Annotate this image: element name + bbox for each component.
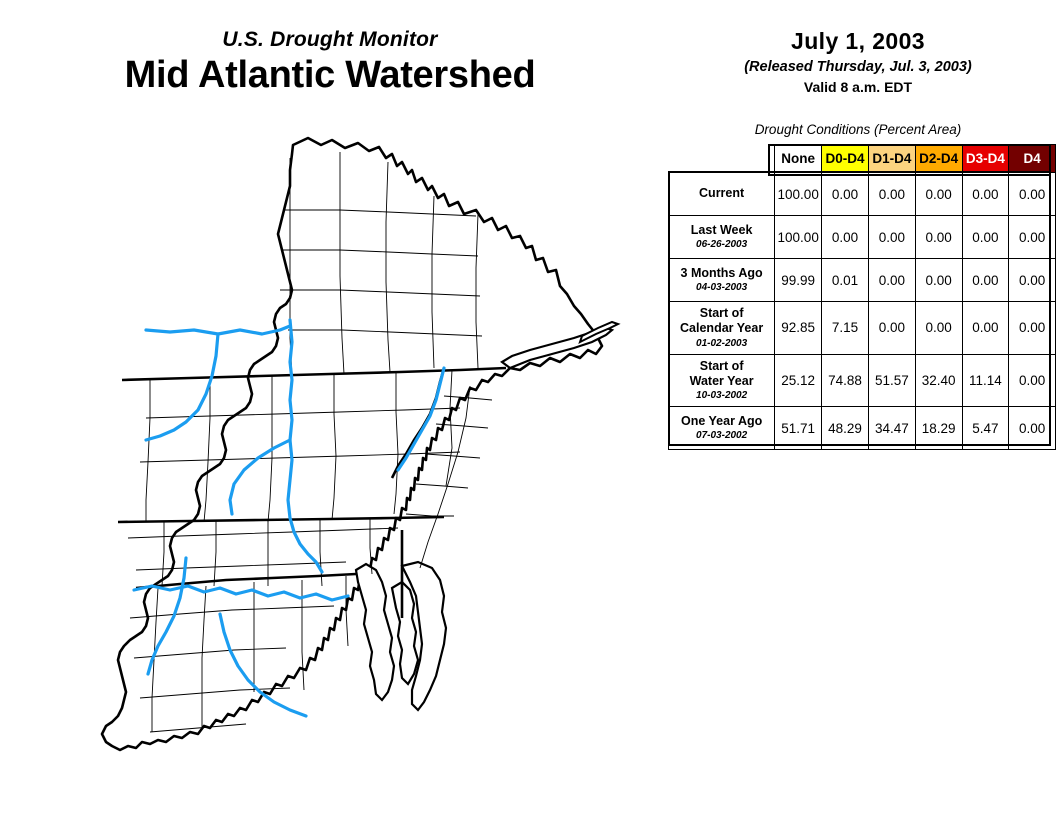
chesapeake-bay <box>356 564 418 700</box>
table-cell: 0.00 <box>868 173 915 216</box>
watershed-outline <box>102 138 602 750</box>
table-cell: 48.29 <box>822 407 869 450</box>
table-cell: 34.47 <box>868 407 915 450</box>
release-date: (Released Thursday, Jul. 3, 2003) <box>660 59 1056 75</box>
report-date: July 1, 2003 <box>660 28 1056 55</box>
table-cell: 0.00 <box>962 302 1009 355</box>
table-cell: 7.15 <box>822 302 869 355</box>
table-row-label: One Year Ago07-03-2002 <box>669 407 775 450</box>
info-panel: July 1, 2003 (Released Thursday, Jul. 3,… <box>660 0 1056 816</box>
table-cell: 99.99 <box>775 259 822 302</box>
table-header-row: NoneD0-D4D1-D4D2-D4D3-D4D4 <box>669 145 1056 173</box>
table-cell: 11.14 <box>962 354 1009 407</box>
table-cell: 0.00 <box>915 173 962 216</box>
date-block: July 1, 2003 (Released Thursday, Jul. 3,… <box>660 28 1056 95</box>
table-col-header-d1-d4: D1-D4 <box>868 145 915 173</box>
table-cell: 0.00 <box>868 216 915 259</box>
map-panel: U.S. Drought Monitor Mid Atlantic Waters… <box>0 0 660 816</box>
table-body: Current100.000.000.000.000.000.00Last We… <box>669 173 1056 450</box>
table-cell: 74.88 <box>822 354 869 407</box>
table-col-header-none: None <box>775 145 822 173</box>
valid-time: Valid 8 a.m. EDT <box>660 79 1056 95</box>
table-cell: 0.00 <box>1009 354 1056 407</box>
table-row: Start ofCalendar Year01-02-200392.857.15… <box>669 302 1056 355</box>
table-cell: 25.12 <box>775 354 822 407</box>
table-cell: 0.00 <box>822 173 869 216</box>
program-title: U.S. Drought Monitor <box>0 28 660 51</box>
table-cell: 0.00 <box>1009 173 1056 216</box>
region-title: Mid Atlantic Watershed <box>0 54 660 97</box>
table-col-header-d0-d4: D0-D4 <box>822 145 869 173</box>
table-cell: 18.29 <box>915 407 962 450</box>
table-caption: Drought Conditions (Percent Area) <box>660 122 1056 137</box>
table-row: Current100.000.000.000.000.000.00 <box>669 173 1056 216</box>
table-cell: 0.00 <box>915 259 962 302</box>
table-cell: 0.00 <box>1009 302 1056 355</box>
table-row-label: Start ofCalendar Year01-02-2003 <box>669 302 775 355</box>
table-cell: 0.00 <box>1009 259 1056 302</box>
map-landmass <box>102 138 618 750</box>
table-cell: 0.00 <box>822 216 869 259</box>
drought-conditions-table: NoneD0-D4D1-D4D2-D4D3-D4D4 Current100.00… <box>668 144 1056 450</box>
table-col-header-d2-d4: D2-D4 <box>915 145 962 173</box>
drought-map[interactable] <box>40 118 640 778</box>
table-row: 3 Months Ago04-03-200399.990.010.000.000… <box>669 259 1056 302</box>
table-row-label: 3 Months Ago04-03-2003 <box>669 259 775 302</box>
table-corner-cell <box>669 145 775 173</box>
table-row-date: 04-03-2003 <box>672 282 771 294</box>
table-row-date: 06-26-2003 <box>672 239 771 251</box>
table-row-date: 07-03-2002 <box>672 430 771 442</box>
table-row: One Year Ago07-03-200251.7148.2934.4718.… <box>669 407 1056 450</box>
table-row-label: Start ofWater Year10-03-2002 <box>669 354 775 407</box>
table-cell: 0.00 <box>1009 216 1056 259</box>
table-row: Last Week06-26-2003100.000.000.000.000.0… <box>669 216 1056 259</box>
west-branch-lower <box>146 334 218 440</box>
title-block: U.S. Drought Monitor Mid Atlantic Waters… <box>0 28 660 97</box>
table-cell: 100.00 <box>775 216 822 259</box>
table-cell: 100.00 <box>775 173 822 216</box>
table-cell: 0.00 <box>1009 407 1056 450</box>
table-cell: 0.00 <box>962 259 1009 302</box>
table-col-header-d3-d4: D3-D4 <box>962 145 1009 173</box>
table-cell: 0.00 <box>868 259 915 302</box>
table-cell: 51.57 <box>868 354 915 407</box>
table-row-label: Current <box>669 173 775 216</box>
table-row-label: Last Week06-26-2003 <box>669 216 775 259</box>
table-cell: 0.00 <box>962 173 1009 216</box>
table-cell: 0.00 <box>915 302 962 355</box>
table-cell: 5.47 <box>962 407 1009 450</box>
table-row-date: 01-02-2003 <box>672 338 771 350</box>
table-col-header-d4: D4 <box>1009 145 1056 173</box>
table-cell: 0.01 <box>822 259 869 302</box>
table-row: Start ofWater Year10-03-200225.1274.8851… <box>669 354 1056 407</box>
table-cell: 0.00 <box>915 216 962 259</box>
table-cell: 92.85 <box>775 302 822 355</box>
table-row-date: 10-03-2002 <box>672 390 771 402</box>
table-cell: 0.00 <box>962 216 1009 259</box>
table-cell: 0.00 <box>868 302 915 355</box>
table-cell: 51.71 <box>775 407 822 450</box>
table-cell: 32.40 <box>915 354 962 407</box>
